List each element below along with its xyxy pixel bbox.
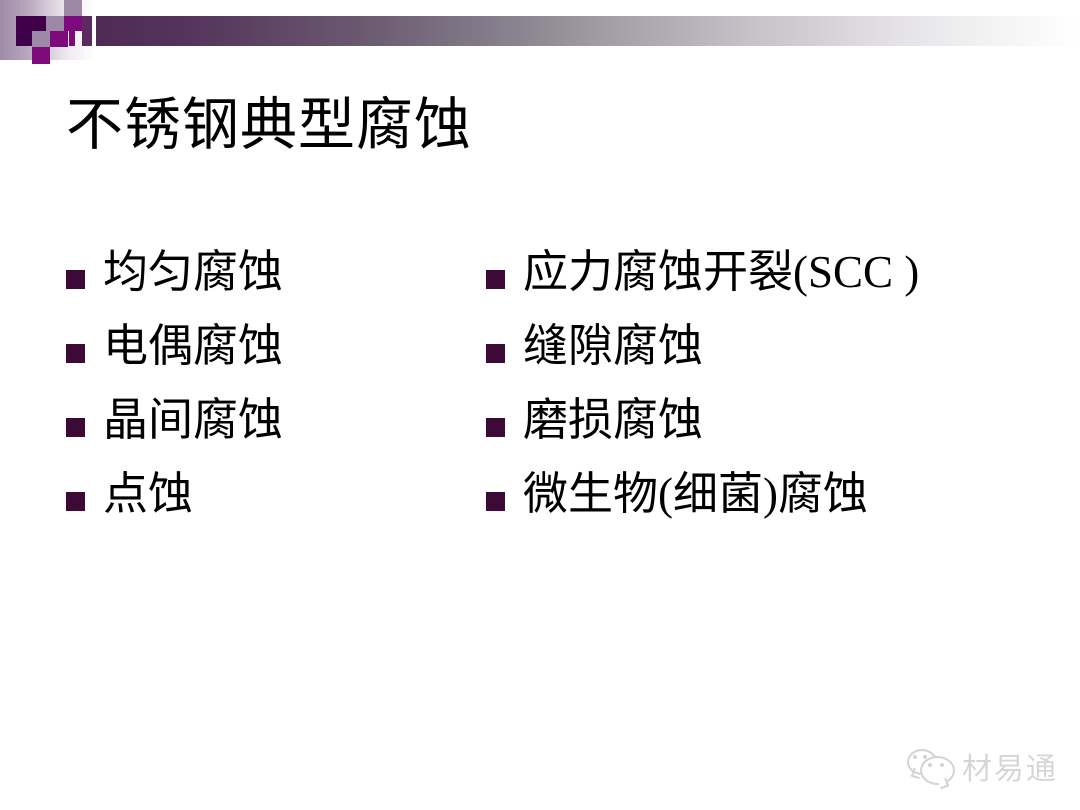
gradient-fade-left <box>0 0 96 60</box>
bullet-column-left: 均匀腐蚀 电偶腐蚀 晶间腐蚀 点蚀 <box>66 248 466 544</box>
header-decoration <box>0 0 1080 95</box>
deco-square-plum-a <box>82 16 92 46</box>
list-item-label: 电偶腐蚀 <box>103 324 283 369</box>
slide-canvas: 不锈钢典型腐蚀 均匀腐蚀 电偶腐蚀 晶间腐蚀 点蚀 应力腐蚀开裂(SCC ) 缝… <box>0 0 1080 810</box>
list-item: 电偶腐蚀 <box>66 322 466 396</box>
watermark: 材易通 <box>907 744 1058 788</box>
list-item-label: 晶间腐蚀 <box>103 398 283 443</box>
deco-square-magenta-b <box>69 16 75 46</box>
deco-square-magenta-c <box>50 31 68 47</box>
gradient-bar <box>0 16 1080 46</box>
watermark-label: 材易通 <box>962 744 1058 788</box>
list-item: 点蚀 <box>66 470 466 544</box>
list-item: 磨损腐蚀 <box>486 396 1066 470</box>
list-item-label: 缝隙腐蚀 <box>523 324 703 369</box>
list-item-label: 微生物(细菌)腐蚀 <box>523 472 868 517</box>
wechat-bubble-front <box>920 756 955 785</box>
list-item: 缝隙腐蚀 <box>486 322 1066 396</box>
list-item: 晶间腐蚀 <box>66 396 466 470</box>
deco-square-magenta-a <box>64 16 82 31</box>
list-item-label: 均匀腐蚀 <box>103 250 283 295</box>
square-bullet-icon <box>66 344 85 363</box>
wechat-dot-1 <box>913 755 917 759</box>
deco-square-darkpurple <box>16 16 46 46</box>
deco-square-white-a <box>46 16 64 46</box>
deco-square-mauve-top <box>64 0 82 16</box>
list-item: 均匀腐蚀 <box>66 248 466 322</box>
square-bullet-icon <box>66 270 85 289</box>
list-item-label: 点蚀 <box>103 472 193 517</box>
list-item: 应力腐蚀开裂(SCC ) <box>486 248 1066 322</box>
deco-square-magenta-d <box>32 47 50 64</box>
deco-square-mauve-c <box>32 31 50 47</box>
list-item: 微生物(细菌)腐蚀 <box>486 470 1066 544</box>
wechat-dot-3 <box>928 763 932 767</box>
page-title: 不锈钢典型腐蚀 <box>66 92 472 159</box>
deco-square-mauve-b <box>46 16 64 32</box>
square-bullet-icon <box>486 418 505 437</box>
list-item-label: 磨损腐蚀 <box>523 398 703 443</box>
list-item-label: 应力腐蚀开裂(SCC ) <box>523 250 919 295</box>
square-bullet-icon <box>66 418 85 437</box>
wechat-icon <box>907 749 953 783</box>
square-bullet-icon <box>486 492 505 511</box>
bullet-column-right: 应力腐蚀开裂(SCC ) 缝隙腐蚀 磨损腐蚀 微生物(细菌)腐蚀 <box>486 248 1066 544</box>
square-bullet-icon <box>486 270 505 289</box>
wechat-dot-4 <box>940 763 944 767</box>
square-bullet-icon <box>486 344 505 363</box>
square-bullet-icon <box>66 492 85 511</box>
